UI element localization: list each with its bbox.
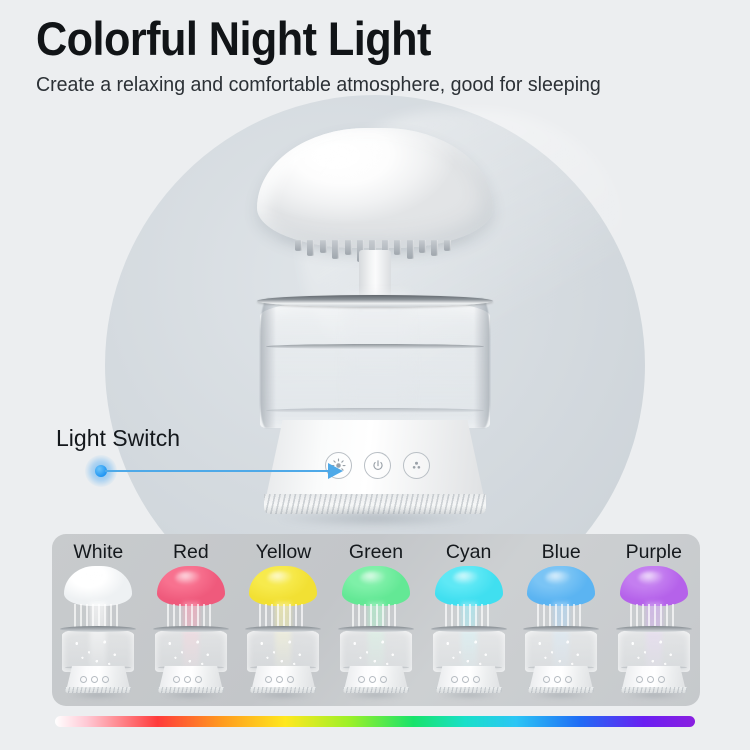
tank-wall-right xyxy=(474,298,490,428)
product-infographic: Colorful Night Light Create a relaxing a… xyxy=(0,0,750,750)
mini-mist-button[interactable] xyxy=(287,676,294,683)
mini-cap-highlight xyxy=(453,571,479,585)
color-swatch-item[interactable]: White xyxy=(52,534,145,706)
mushroom-cap xyxy=(257,128,493,248)
mini-bubbles xyxy=(441,636,497,670)
mini-cap-highlight xyxy=(360,571,386,585)
power-icon xyxy=(371,459,385,473)
mini-light-button[interactable] xyxy=(173,676,180,683)
mini-power-button[interactable] xyxy=(184,676,191,683)
color-swatch-label: White xyxy=(73,541,123,564)
mini-power-button[interactable] xyxy=(462,676,469,683)
mini-tank-rim xyxy=(431,626,507,632)
mini-tank-rim xyxy=(245,626,321,632)
rain-nozzle xyxy=(394,240,401,255)
water-tank xyxy=(260,298,490,428)
mini-cap-highlight xyxy=(82,571,108,585)
mini-cap xyxy=(249,566,317,606)
mini-bubbles xyxy=(255,636,311,670)
mini-control-panel xyxy=(451,676,480,683)
mini-light-button[interactable] xyxy=(543,676,550,683)
callout-arrow-icon xyxy=(328,463,343,479)
color-swatch-row: WhiteRedYellowGreenCyanBluePurple xyxy=(52,534,700,706)
color-swatch-item[interactable]: Blue xyxy=(515,534,608,706)
mini-mist-button[interactable] xyxy=(102,676,109,683)
mini-bubbles xyxy=(626,636,682,670)
mini-humidifier xyxy=(519,566,603,694)
color-swatch-item[interactable]: Red xyxy=(145,534,238,706)
mini-cap-highlight xyxy=(267,571,293,585)
color-swatch-item[interactable]: Yellow xyxy=(237,534,330,706)
mini-shadow xyxy=(253,692,313,699)
mini-base-vent xyxy=(621,687,687,693)
mini-mist-button[interactable] xyxy=(658,676,665,683)
color-swatch-item[interactable]: Purple xyxy=(607,534,700,706)
mini-cap xyxy=(527,566,595,606)
mini-light-button[interactable] xyxy=(636,676,643,683)
mini-base-vent xyxy=(65,687,131,693)
mini-cap-highlight xyxy=(638,571,664,585)
mini-control-panel xyxy=(80,676,109,683)
mini-humidifier xyxy=(334,566,418,694)
color-spectrum-bar xyxy=(55,716,695,727)
page-subtitle: Create a relaxing and comfortable atmosp… xyxy=(36,73,695,97)
mini-cap-highlight xyxy=(175,571,201,585)
mini-base-vent xyxy=(158,687,224,693)
mini-base-vent xyxy=(528,687,594,693)
rain-nozzle xyxy=(345,240,352,255)
mini-cap xyxy=(620,566,688,606)
mini-humidifier xyxy=(612,566,696,694)
base-shadow xyxy=(275,512,475,528)
mini-shadow xyxy=(439,692,499,699)
mini-power-button[interactable] xyxy=(276,676,283,683)
mini-power-button[interactable] xyxy=(91,676,98,683)
color-swatch-label: Purple xyxy=(626,541,682,564)
cap-highlight xyxy=(301,140,387,184)
mini-control-panel xyxy=(358,676,387,683)
mini-humidifier xyxy=(427,566,511,694)
mini-power-button[interactable] xyxy=(647,676,654,683)
color-swatch-label: Cyan xyxy=(446,541,492,564)
mini-shadow xyxy=(531,692,591,699)
mini-control-panel xyxy=(543,676,572,683)
mini-cap-highlight xyxy=(545,571,571,585)
mini-cap xyxy=(64,566,132,606)
mini-light-button[interactable] xyxy=(80,676,87,683)
mini-light-button[interactable] xyxy=(451,676,458,683)
mini-control-panel xyxy=(636,676,665,683)
page-title: Colorful Night Light xyxy=(36,14,671,64)
mini-cap xyxy=(157,566,225,606)
mini-mist-button[interactable] xyxy=(195,676,202,683)
light-switch-label: Light Switch xyxy=(56,425,180,452)
rain-nozzle xyxy=(332,240,339,259)
mini-base-vent xyxy=(343,687,409,693)
mini-base-vent xyxy=(250,687,316,693)
color-swatch-label: Red xyxy=(173,541,209,564)
mini-tank-rim xyxy=(616,626,692,632)
mini-shadow xyxy=(346,692,406,699)
mini-cap xyxy=(435,566,503,606)
mist-button[interactable] xyxy=(403,452,430,479)
color-swatch-label: Yellow xyxy=(256,541,312,564)
mini-mist-button[interactable] xyxy=(565,676,572,683)
power-button[interactable] xyxy=(364,452,391,479)
base-vent xyxy=(264,494,486,514)
mini-power-button[interactable] xyxy=(369,676,376,683)
rain-nozzle xyxy=(444,240,451,251)
rain-nozzle xyxy=(295,240,302,251)
mini-shadow xyxy=(624,692,684,699)
rain-nozzle xyxy=(320,240,327,253)
mist-icon xyxy=(409,458,424,473)
mini-tank-rim xyxy=(338,626,414,632)
color-swatch-label: Blue xyxy=(542,541,581,564)
product-illustration xyxy=(243,128,508,528)
mini-tank-rim xyxy=(60,626,136,632)
mini-tank-rim xyxy=(153,626,229,632)
product-base xyxy=(265,420,485,516)
mini-mist-button[interactable] xyxy=(380,676,387,683)
water-level-line xyxy=(266,344,484,349)
color-swatch-item[interactable]: Cyan xyxy=(422,534,515,706)
mini-humidifier xyxy=(241,566,325,694)
color-swatch-panel: WhiteRedYellowGreenCyanBluePurple xyxy=(52,534,700,706)
mini-bubbles xyxy=(70,636,126,670)
mini-mist-button[interactable] xyxy=(473,676,480,683)
rain-nozzle xyxy=(407,240,414,259)
mini-control-panel xyxy=(265,676,294,683)
mini-light-button[interactable] xyxy=(265,676,272,683)
mini-humidifier xyxy=(149,566,233,694)
mini-power-button[interactable] xyxy=(554,676,561,683)
mini-bubbles xyxy=(348,636,404,670)
tank-base-line xyxy=(266,408,484,413)
color-swatch-label: Green xyxy=(349,541,403,564)
mini-humidifier xyxy=(56,566,140,694)
rain-nozzle xyxy=(307,240,314,256)
tank-rim xyxy=(257,295,493,307)
mini-bubbles xyxy=(533,636,589,670)
mini-bubbles xyxy=(163,636,219,670)
mini-shadow xyxy=(161,692,221,699)
rain-nozzle xyxy=(431,240,438,256)
mini-light-button[interactable] xyxy=(358,676,365,683)
mist-column xyxy=(346,294,410,416)
color-swatch-item[interactable]: Green xyxy=(330,534,423,706)
rain-nozzle xyxy=(419,240,426,253)
mini-control-panel xyxy=(173,676,202,683)
mini-cap xyxy=(342,566,410,606)
callout-line xyxy=(105,470,330,472)
mini-tank-rim xyxy=(523,626,599,632)
mini-base-vent xyxy=(436,687,502,693)
header: Colorful Night Light Create a relaxing a… xyxy=(36,14,726,97)
mini-shadow xyxy=(68,692,128,699)
tank-wall-left xyxy=(260,298,276,428)
